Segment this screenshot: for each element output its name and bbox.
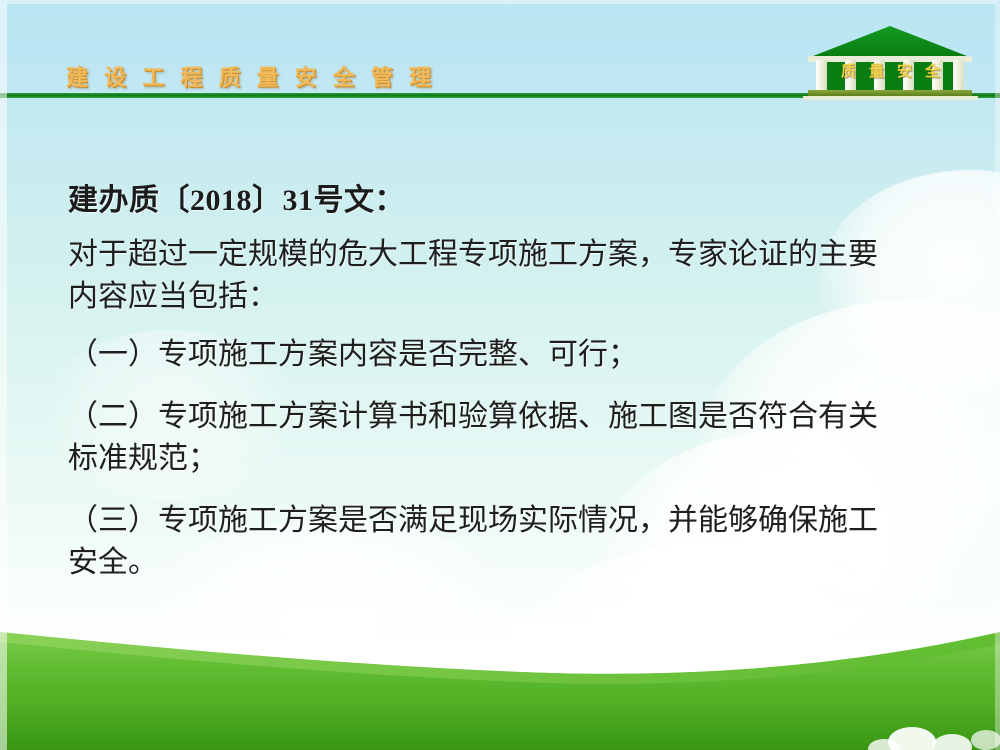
page-title: 建 设 工 程 质 量 安 全 管 理 <box>66 60 436 92</box>
spacer <box>68 324 898 334</box>
document-reference-title: 建办质〔2018〕31号文： <box>68 182 898 220</box>
list-item: （二）专项施工方案计算书和验算依据、施工图是否符合有关标准规范； <box>68 396 898 480</box>
quality-safety-building-logo: 质量安全 <box>798 24 983 102</box>
lead-paragraph: 对于超过一定规模的危大工程专项施工方案，专家论证的主要内容应当包括： <box>68 234 898 318</box>
list-item: （三）专项施工方案是否满足现场实际情况，并能够确保施工安全。 <box>68 500 898 584</box>
logo-label: 质量安全 <box>808 60 973 81</box>
list-item: （一）专项施工方案内容是否完整、可行； <box>68 334 898 376</box>
spacer <box>68 382 898 396</box>
slide-root: 建 设 工 程 质 量 安 全 管 理 <box>0 0 1000 750</box>
spacer <box>68 486 898 500</box>
slide-content: 建办质〔2018〕31号文： 对于超过一定规模的危大工程专项施工方案，专家论证的… <box>68 182 898 590</box>
grass-field <box>0 570 1000 750</box>
